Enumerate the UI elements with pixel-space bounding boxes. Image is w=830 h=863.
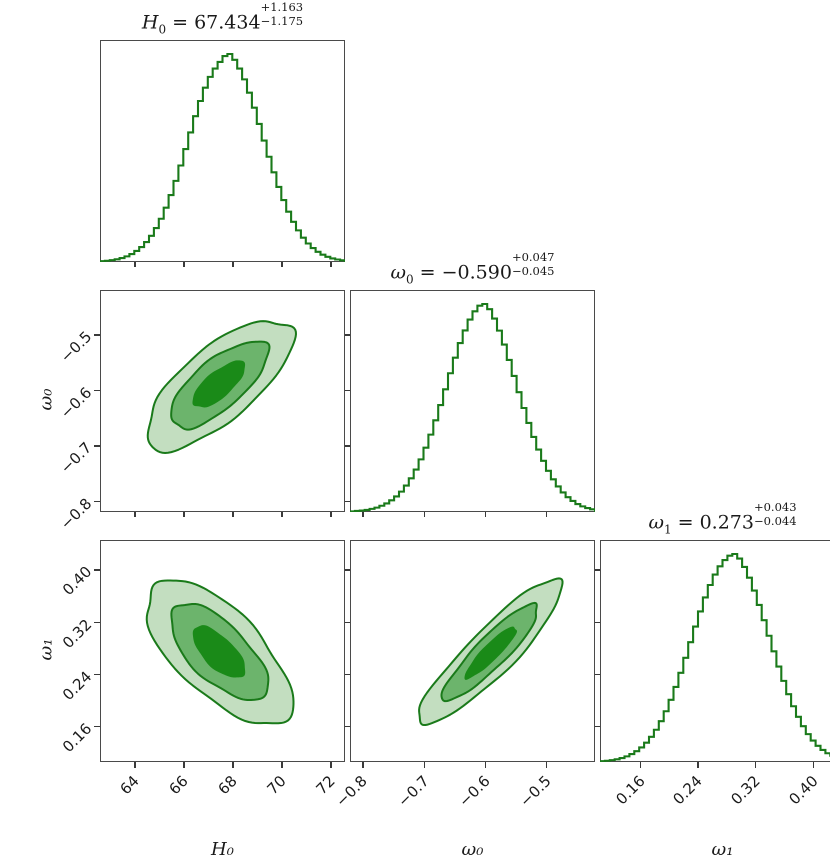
xtick-label-w1: 0.24 [670, 772, 706, 808]
axis-tick [345, 445, 350, 446]
panel-title-w1: ω1 = 0.273+0.043−0.044 [600, 508, 830, 536]
axis-tick [134, 262, 135, 267]
axis-tick [183, 512, 184, 517]
xtick-label-H0: 68 [215, 772, 241, 798]
axis-tick [94, 569, 100, 570]
histogram-w1 [600, 540, 830, 762]
ytick-label-w1: 0.40 [59, 563, 95, 599]
axis-tick [813, 762, 814, 768]
axis-tick [94, 622, 100, 623]
axis-tick [546, 762, 547, 768]
axis-tick [183, 762, 184, 768]
contour-H0-w1 [100, 540, 345, 762]
panel-title-H0: H0 = 67.434+1.163−1.175 [100, 8, 345, 36]
xtick-label-w1: 0.16 [612, 772, 648, 808]
axis-tick [94, 445, 100, 446]
yaxis-label-w1: ω₁ [36, 600, 57, 700]
axis-tick [362, 762, 363, 768]
axis-tick [330, 512, 331, 517]
xtick-label-w0: −0.6 [455, 772, 493, 810]
corner-plot-figure: H0 = 67.434+1.163−1.175ω0 = −0.590+0.047… [0, 0, 830, 863]
xtick-label-w1: 0.40 [785, 772, 821, 808]
axis-tick [595, 622, 600, 623]
axis-tick [640, 762, 641, 768]
panel-title-w0: ω0 = −0.590+0.047−0.045 [350, 258, 595, 286]
contour-w0-w1 [350, 540, 595, 762]
axis-tick [485, 762, 486, 768]
axis-tick [281, 762, 282, 768]
axis-tick [345, 569, 350, 570]
xaxis-label-w1: ω₁ [600, 839, 830, 860]
ytick-label-w0: −0.6 [57, 384, 95, 422]
axis-tick [424, 762, 425, 768]
histogram-H0 [100, 40, 345, 262]
xtick-label-w0: −0.8 [332, 772, 370, 810]
axis-tick [330, 262, 331, 267]
xaxis-label-H0: H₀ [100, 839, 345, 860]
ytick-label-w1: 0.32 [59, 615, 95, 651]
axis-tick [94, 334, 100, 335]
xtick-label-w1: 0.32 [727, 772, 763, 808]
axis-tick [595, 726, 600, 727]
axis-tick [362, 512, 363, 517]
axis-tick [232, 512, 233, 517]
histogram-w0 [350, 290, 595, 512]
axis-tick [134, 762, 135, 768]
axis-tick [755, 762, 756, 768]
ytick-label-w1: 0.24 [59, 667, 95, 703]
axis-tick [94, 674, 100, 675]
axis-tick [345, 726, 350, 727]
yaxis-label-w0: ω₀ [36, 350, 57, 450]
xtick-label-H0: 64 [117, 772, 143, 798]
axis-tick [232, 762, 233, 768]
axis-tick [345, 334, 350, 335]
ytick-label-w1: 0.16 [59, 720, 95, 756]
axis-tick [183, 262, 184, 267]
axis-tick [595, 674, 600, 675]
axis-tick [94, 726, 100, 727]
axis-tick [345, 501, 350, 502]
axis-tick [345, 622, 350, 623]
axis-tick [94, 501, 100, 502]
axis-tick [345, 390, 350, 391]
xaxis-label-w0: ω₀ [350, 839, 595, 860]
xtick-label-H0: 66 [166, 772, 192, 798]
axis-tick [281, 262, 282, 267]
xtick-label-H0: 70 [264, 772, 290, 798]
axis-tick [330, 762, 331, 768]
ytick-label-w0: −0.5 [57, 328, 95, 366]
axis-tick [345, 674, 350, 675]
axis-tick [134, 512, 135, 517]
contour-H0-w0 [100, 290, 345, 512]
axis-tick [281, 512, 282, 517]
axis-tick [94, 390, 100, 391]
ytick-label-w0: −0.8 [57, 495, 95, 533]
axis-tick [485, 512, 486, 517]
ytick-label-w0: −0.7 [57, 439, 95, 477]
axis-tick [595, 569, 600, 570]
axis-tick [424, 512, 425, 517]
axis-tick [697, 762, 698, 768]
xtick-label-w0: −0.7 [394, 772, 432, 810]
xtick-label-w0: −0.5 [516, 772, 554, 810]
axis-tick [546, 512, 547, 517]
axis-tick [232, 262, 233, 267]
